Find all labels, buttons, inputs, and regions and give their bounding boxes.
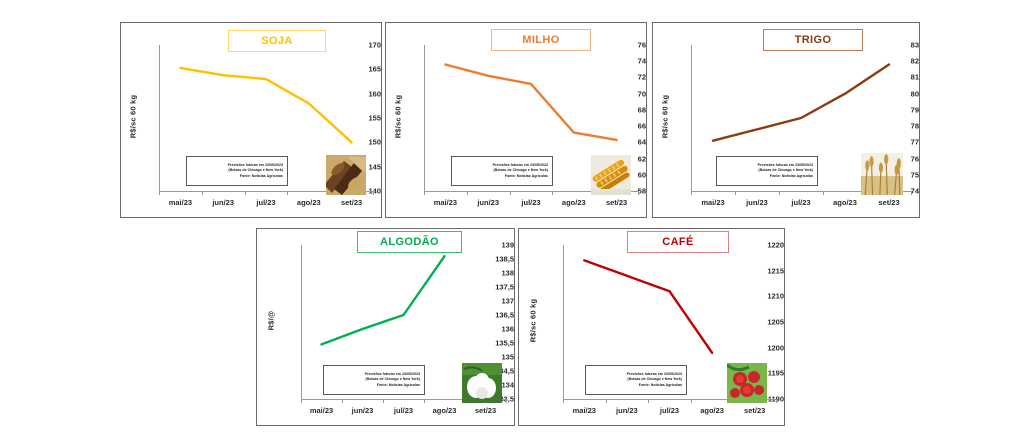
x-tick-mark <box>638 191 639 195</box>
x-tick-mark <box>779 191 780 195</box>
source-note-cafe: Previsões futuras em 23/05/2023(Bolsas d… <box>585 365 687 395</box>
x-tick-mark <box>383 399 384 403</box>
x-tick-label: ago/23 <box>562 198 586 207</box>
x-tick-label: ago/23 <box>833 198 857 207</box>
x-tick-label: jun/23 <box>746 198 768 207</box>
x-tick-mark <box>823 191 824 195</box>
chart-title-text: CAFÉ <box>662 236 694 248</box>
note-line-3: Fonte: Notícias Agrícolas <box>505 174 548 179</box>
chart-title-text: SOJA <box>261 35 293 47</box>
source-note-trigo: Previsões futuras em 23/05/2023(Bolsas d… <box>716 156 818 186</box>
x-tick-mark <box>424 399 425 403</box>
x-tick-mark <box>287 191 288 195</box>
note-line-3: Fonte: Notícias Agrícolas <box>770 174 813 179</box>
x-tick-label: mai/23 <box>573 406 596 415</box>
x-tick-mark <box>552 191 553 195</box>
chart-panel-trigo: R$/sc 60 kg74757677787980818283mai/23jun… <box>652 22 920 218</box>
x-tick-mark <box>648 399 649 403</box>
x-tick-label: jun/23 <box>616 406 638 415</box>
x-tick-mark <box>563 399 564 403</box>
x-tick-mark <box>301 399 302 403</box>
chart-title-trigo: TRIGO <box>763 29 863 51</box>
x-tick-label: set/23 <box>475 406 496 415</box>
x-tick-mark <box>202 191 203 195</box>
x-tick-label: jul/23 <box>521 198 540 207</box>
dashboard-canvas: R$/sc 60 kg140145150155160165170mai/23ju… <box>0 0 1024 434</box>
chart-title-text: TRIGO <box>795 34 832 46</box>
x-tick-label: ago/23 <box>433 406 457 415</box>
x-tick-mark <box>691 399 692 403</box>
x-tick-label: jul/23 <box>660 406 679 415</box>
chart-title-soja: SOJA <box>228 30 326 52</box>
x-tick-label: jul/23 <box>256 198 275 207</box>
x-tick-mark <box>776 399 777 403</box>
x-tick-label: jun/23 <box>477 198 499 207</box>
chart-title-cafe: CAFÉ <box>627 231 729 253</box>
chart-title-algodao: ALGODÃO <box>357 231 462 253</box>
x-tick-mark <box>373 191 374 195</box>
x-tick-label: jun/23 <box>212 198 234 207</box>
chart-title-text: MILHO <box>522 34 559 46</box>
x-tick-mark <box>245 191 246 195</box>
chart-panel-milho: R$/sc 60 kg58606264666870727476mai/23jun… <box>385 22 647 218</box>
x-tick-mark <box>424 191 425 195</box>
corn-cobs-photo <box>591 155 631 195</box>
x-tick-label: jun/23 <box>352 406 374 415</box>
wheat-field-photo <box>861 153 903 195</box>
chart-panel-algodao: R$/@133,5134134,5135135,5136136,5137137,… <box>256 228 515 426</box>
soybean-pods-photo <box>326 155 366 195</box>
source-note-algodao: Previsões futuras em 23/05/2023(Bolsas d… <box>323 365 425 395</box>
x-tick-mark <box>606 399 607 403</box>
x-tick-label: set/23 <box>341 198 362 207</box>
source-note-soja: Previsões futuras em 23/05/2023(Bolsas d… <box>186 156 288 186</box>
chart-title-milho: MILHO <box>491 29 591 51</box>
x-tick-label: mai/23 <box>169 198 192 207</box>
x-tick-label: set/23 <box>606 198 627 207</box>
x-tick-label: jul/23 <box>394 406 413 415</box>
coffee-cherries-photo <box>727 363 767 403</box>
x-tick-label: jul/23 <box>791 198 810 207</box>
note-line-3: Fonte: Notícias Agrícolas <box>377 383 420 388</box>
x-tick-label: mai/23 <box>310 406 333 415</box>
x-tick-mark <box>911 191 912 195</box>
x-tick-label: mai/23 <box>701 198 724 207</box>
chart-title-text: ALGODÃO <box>380 236 439 248</box>
x-tick-mark <box>506 399 507 403</box>
x-tick-mark <box>467 191 468 195</box>
x-tick-label: set/23 <box>744 406 765 415</box>
x-tick-mark <box>510 191 511 195</box>
x-tick-label: ago/23 <box>700 406 724 415</box>
x-tick-mark <box>735 191 736 195</box>
x-tick-label: mai/23 <box>434 198 457 207</box>
note-line-3: Fonte: Notícias Agrícolas <box>240 174 283 179</box>
x-tick-label: ago/23 <box>297 198 321 207</box>
note-line-3: Fonte: Notícias Agrícolas <box>639 383 682 388</box>
x-tick-mark <box>691 191 692 195</box>
chart-panel-soja: R$/sc 60 kg140145150155160165170mai/23ju… <box>120 22 382 218</box>
source-note-milho: Previsões futuras em 23/05/2023(Bolsas d… <box>451 156 553 186</box>
x-tick-mark <box>342 399 343 403</box>
cotton-boll-photo <box>462 363 502 403</box>
chart-panel-cafe: R$/sc 60 kg1190119512001205121012151220m… <box>518 228 785 426</box>
x-tick-label: set/23 <box>878 198 899 207</box>
x-tick-mark <box>159 191 160 195</box>
